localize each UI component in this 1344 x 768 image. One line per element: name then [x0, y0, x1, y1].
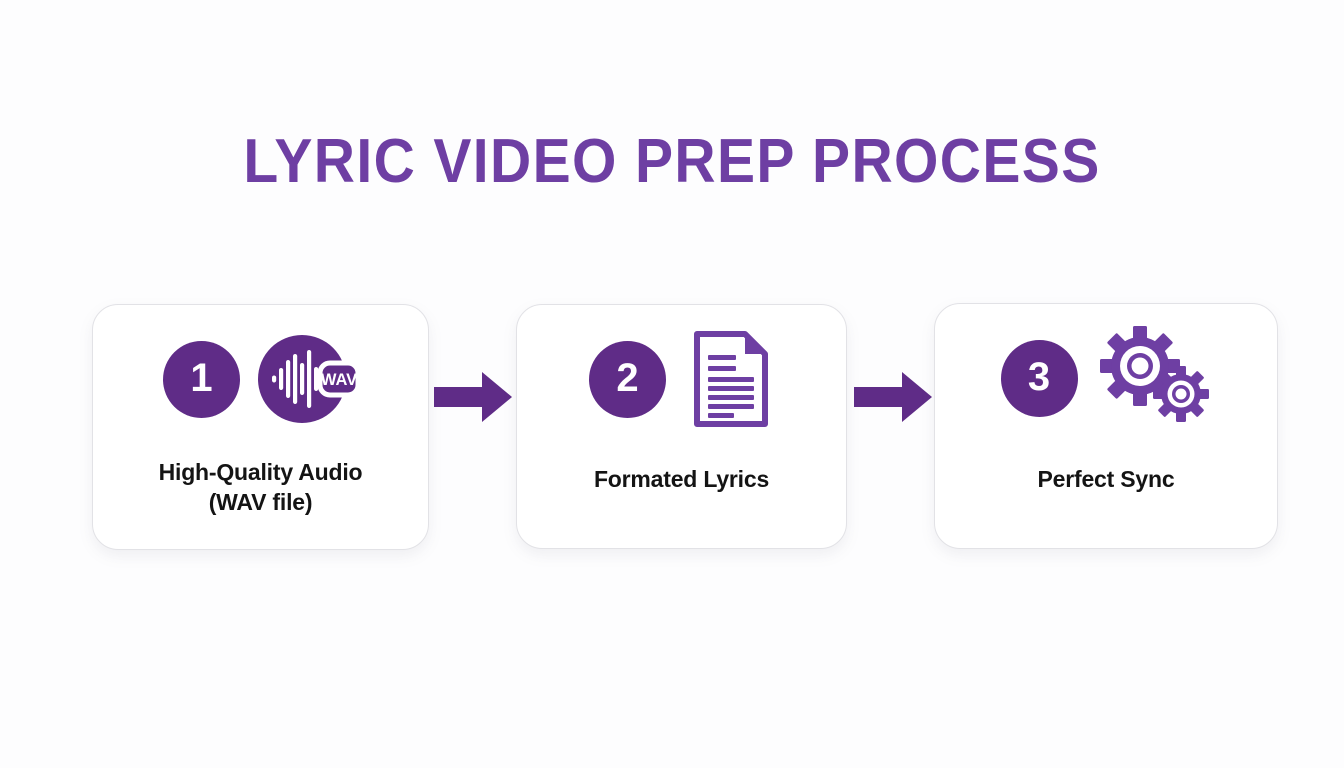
- step-card-1[interactable]: 1 WAV High-Qua: [92, 304, 429, 550]
- step-card-3-header: 3: [935, 304, 1277, 452]
- step-card-2-header: 2: [517, 305, 846, 453]
- step-card-2-label: Formated Lyrics: [525, 464, 838, 494]
- svg-text:WAV: WAV: [321, 371, 357, 389]
- document-lines-icon: [688, 327, 774, 431]
- step-number-badge-1: 1: [163, 341, 240, 418]
- arrow-step-2-to-3: [854, 370, 932, 424]
- step-card-1-label: High-Quality Audio (WAV file): [101, 457, 420, 518]
- step-card-3[interactable]: 3: [934, 303, 1278, 549]
- step-card-1-header: 1 WAV: [93, 305, 428, 453]
- slide-canvas: LYRIC VIDEO PREP PROCESS 1: [0, 0, 1344, 768]
- audio-waveform-wav-icon: WAV: [254, 327, 358, 431]
- step-number-badge-2: 2: [589, 341, 666, 418]
- step-number-badge-3: 3: [1001, 340, 1078, 417]
- step-card-2[interactable]: 2 Formated Lyrics: [516, 304, 847, 549]
- step-card-3-label: Perfect Sync: [943, 464, 1269, 494]
- arrow-step-1-to-2: [434, 370, 512, 424]
- page-title: LYRIC VIDEO PREP PROCESS: [54, 131, 1290, 193]
- gears-icon: [1096, 326, 1212, 430]
